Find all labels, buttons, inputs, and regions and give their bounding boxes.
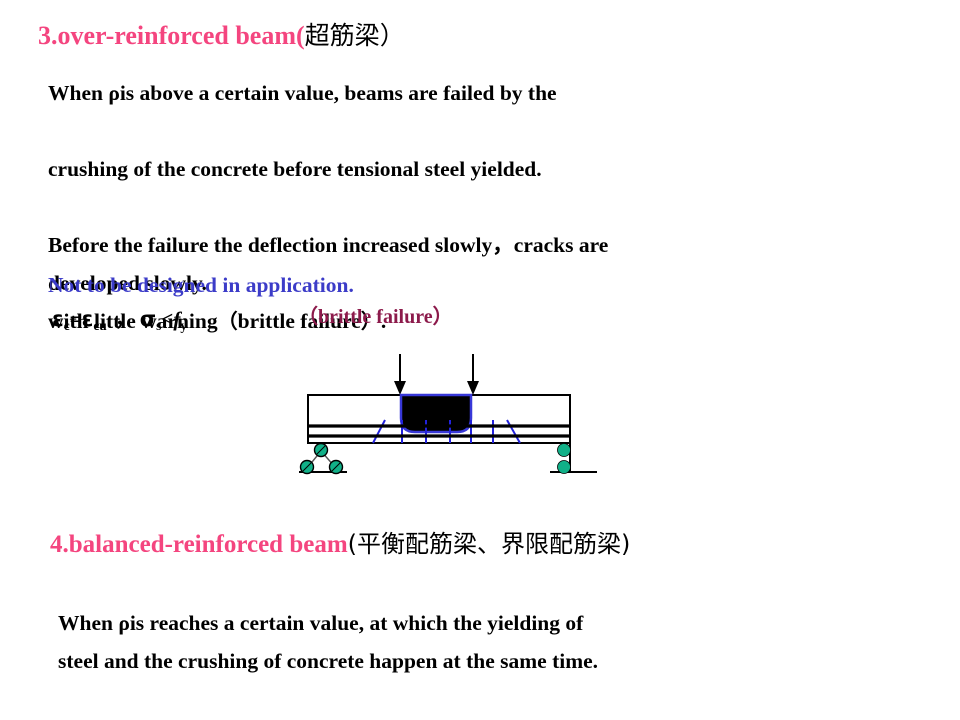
over-body-line-3-post: cracks are: [514, 233, 609, 257]
heading-balanced-paren-close: ): [621, 530, 630, 558]
balanced-body-line-1: When ρis reaches a certain value, at whi…: [58, 604, 583, 642]
over-design-note-text: Not to be designed in application.: [48, 273, 354, 297]
over-body-line-3: Before the failure the deflection increa…: [48, 226, 608, 265]
heading-balanced-chinese: 平衡配筋梁、界限配筋梁: [357, 530, 621, 558]
balanced-body-line-2: steel and the crushing of concrete happe…: [58, 642, 598, 680]
equals-sign: =: [70, 307, 82, 331]
over-body-line-2-text: crushing of the concrete before tensiona…: [48, 157, 542, 181]
fy-subscript: y: [180, 318, 187, 333]
over-body-line-3-pre: Before the failure the deflection increa…: [48, 233, 492, 257]
over-body-line-3-comma: ，: [492, 233, 514, 258]
heading-over-english: 3.over-reinforced beam: [38, 21, 296, 50]
epsilon-cu-symbol: ε: [82, 307, 94, 331]
over-body-line-1-text: When ρis above a certain value, beams ar…: [48, 81, 557, 105]
over-body-line-5-paren-open: （: [218, 309, 238, 333]
brittle-annotation-text: brittle failure: [318, 306, 433, 328]
heading-over-chinese: 超筋梁: [305, 21, 380, 50]
brittle-paren-open: （: [298, 304, 318, 328]
less-than-sign: <: [161, 307, 173, 331]
heading-balanced-english: 4.balanced-reinforced beam: [50, 531, 348, 558]
strain-stress-condition-formula: εc=εcu，σs<fy: [52, 303, 187, 334]
over-design-note: Not to be designed in application.: [48, 266, 354, 304]
formula-separator-comma: ，: [115, 307, 136, 331]
brittle-paren-close: ）: [433, 304, 453, 328]
heading-balanced-reinforced-beam: 4.balanced-reinforced beam(平衡配筋梁、界限配筋梁): [50, 531, 630, 559]
epsilon-cu-subscript: cu: [93, 318, 106, 333]
balanced-body-line-2-text: steel and the crushing of concrete happe…: [58, 649, 598, 673]
over-reinforced-beam-failure-diagram: [285, 350, 615, 490]
heading-balanced-paren-open: (: [348, 530, 357, 558]
brittle-failure-annotation: （brittle failure）: [298, 300, 453, 329]
point-load-arrow-left: [394, 354, 406, 395]
balanced-body-line-1-text: When ρis reaches a certain value, at whi…: [58, 611, 583, 635]
over-body-line-2: crushing of the concrete before tensiona…: [48, 150, 542, 188]
pin-support: [299, 444, 347, 474]
over-body-line-1: When ρis above a certain value, beams ar…: [48, 74, 557, 112]
heading-over-reinforced-beam: 3.over-reinforced beam(超筋梁）: [38, 22, 405, 51]
heading-over-paren-open: (: [296, 21, 305, 50]
point-load-arrow-right: [467, 354, 479, 395]
sigma-s-symbol: σ: [140, 307, 156, 331]
roller-support: [550, 443, 597, 474]
epsilon-c-symbol: ε: [52, 307, 64, 331]
heading-over-paren-close: ）: [380, 21, 405, 50]
